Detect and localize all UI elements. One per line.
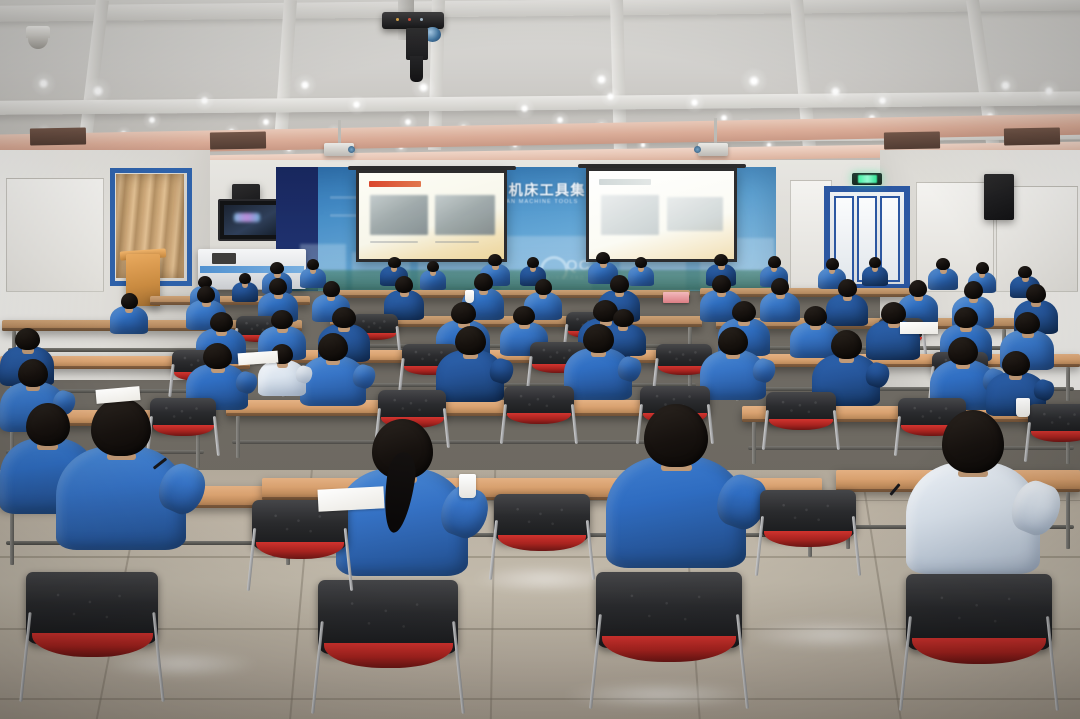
chair <box>1028 404 1080 436</box>
downlight-icon <box>1000 80 1011 91</box>
attendee-head <box>976 262 989 274</box>
attendee-head <box>768 256 781 268</box>
slide-title-bar <box>599 179 651 185</box>
dome-camera-icon <box>26 26 50 38</box>
attendee-head <box>271 310 293 329</box>
attendee-head <box>527 257 539 268</box>
attendee-head <box>942 410 1004 473</box>
attendee-head <box>718 327 748 355</box>
attendee-head <box>712 275 731 293</box>
attendee-head <box>881 302 906 324</box>
table-leg <box>1066 492 1070 549</box>
attendee-head <box>323 281 340 297</box>
attendee-head <box>307 259 319 270</box>
attendee-head <box>1002 351 1030 376</box>
attendee-head <box>610 275 629 293</box>
cornice-vent <box>884 132 940 150</box>
paper-cup <box>1016 398 1030 417</box>
attendee-head <box>644 404 708 467</box>
table-leg <box>752 422 756 464</box>
cornice-vent <box>1004 128 1060 146</box>
downlight-icon <box>404 118 412 126</box>
attendee-head <box>513 306 535 325</box>
cornice-vent <box>30 128 86 146</box>
chair-seat <box>507 413 571 424</box>
downlight-icon <box>690 98 699 107</box>
chair-seat <box>153 425 214 436</box>
chair <box>494 494 590 542</box>
downlight-icon <box>352 100 361 109</box>
attendee-head <box>964 281 983 299</box>
attendee-head <box>838 279 857 297</box>
downlight-icon <box>748 75 760 87</box>
attendee-head <box>1026 284 1046 303</box>
exit-sign-icon <box>852 173 882 185</box>
handout-paper <box>900 322 938 334</box>
cornice-vent <box>210 132 266 150</box>
attendee-head <box>732 301 756 322</box>
wall-panel <box>6 178 104 292</box>
downlight-icon <box>300 80 310 90</box>
ceiling-beam <box>0 91 1080 116</box>
chair <box>760 490 856 538</box>
table-leg <box>1066 367 1070 401</box>
attendee-head <box>826 258 839 270</box>
attendee-head <box>831 330 862 359</box>
table-rail <box>232 440 700 444</box>
console-equipment <box>212 253 236 264</box>
attendee-head <box>203 343 232 369</box>
chair <box>906 574 1052 650</box>
chair <box>596 572 742 648</box>
attendee-head <box>474 273 493 291</box>
right-projection-screen <box>586 168 737 262</box>
attendee-head <box>269 278 287 295</box>
attendee-head <box>318 333 348 361</box>
attendee-head <box>451 302 476 324</box>
attendee-head <box>936 258 950 270</box>
paper-cup <box>459 474 476 498</box>
ceiling-beam <box>274 0 297 150</box>
downlight-icon <box>520 104 529 113</box>
attendee-head <box>1015 312 1040 334</box>
handout-paper <box>317 486 384 511</box>
attendee-head <box>395 276 413 293</box>
attendee-head <box>332 307 356 328</box>
chair-seat <box>1031 431 1080 442</box>
attendee-head <box>948 337 978 365</box>
chair-seat <box>769 419 833 430</box>
downlight-icon <box>148 116 156 124</box>
attendee-head <box>239 273 251 284</box>
attendee-head <box>909 280 927 297</box>
downlight-icon <box>418 82 429 93</box>
table-edge <box>226 413 706 416</box>
chair-leg <box>1024 422 1031 462</box>
slide-title-bar <box>369 181 421 187</box>
chair-leg <box>213 416 220 456</box>
speaker-right <box>984 174 1014 220</box>
chair <box>150 398 216 430</box>
attendee-head <box>583 324 614 353</box>
table-leg <box>10 508 14 565</box>
attendee-head <box>869 257 881 268</box>
downlight-icon <box>38 78 49 89</box>
ceiling-beam <box>0 0 1080 22</box>
table-leg <box>236 416 240 458</box>
conference-room-photo: 秦川机床工具集 QINCHUAN MACHINE TOOLS QC 秦川机床工具… <box>0 0 1080 719</box>
downlight-icon <box>200 96 209 105</box>
downlight-icon <box>262 118 270 126</box>
attendee-head <box>210 312 233 332</box>
left-projection-screen <box>356 170 507 262</box>
chair <box>378 390 446 422</box>
attendee-head <box>714 254 728 266</box>
console-stripe <box>200 266 304 273</box>
attendee-head <box>535 279 552 295</box>
attendee-head <box>954 307 978 328</box>
attendee-head <box>15 328 40 350</box>
attendee-head <box>270 262 284 274</box>
downlight-icon <box>1044 86 1054 96</box>
attendee-head <box>455 326 486 355</box>
downlight-icon <box>878 96 887 105</box>
name-placard <box>663 292 689 303</box>
chair <box>766 392 836 424</box>
chair <box>504 386 574 418</box>
attendee-head <box>388 257 401 268</box>
chair <box>26 572 158 644</box>
attendee-head <box>613 309 634 327</box>
downlight-icon <box>92 85 104 97</box>
attendee-head <box>635 257 647 268</box>
attendee-head <box>26 403 70 446</box>
downlight-icon <box>606 92 615 101</box>
attendee-head <box>771 278 789 295</box>
attendee-head <box>18 359 48 387</box>
attendee-head <box>488 254 502 266</box>
paper-cup <box>465 290 474 303</box>
attendee-head <box>596 252 610 264</box>
downlight-icon <box>830 86 841 97</box>
downlight-icon <box>596 74 607 85</box>
attendee-head <box>121 293 138 309</box>
attendee-head <box>91 398 151 456</box>
attendee-head <box>1018 266 1032 278</box>
attendee-head <box>427 261 439 272</box>
chair <box>318 580 458 654</box>
attendee-head <box>197 286 215 303</box>
wall-monitor <box>218 199 280 241</box>
attendee-head <box>804 306 827 326</box>
